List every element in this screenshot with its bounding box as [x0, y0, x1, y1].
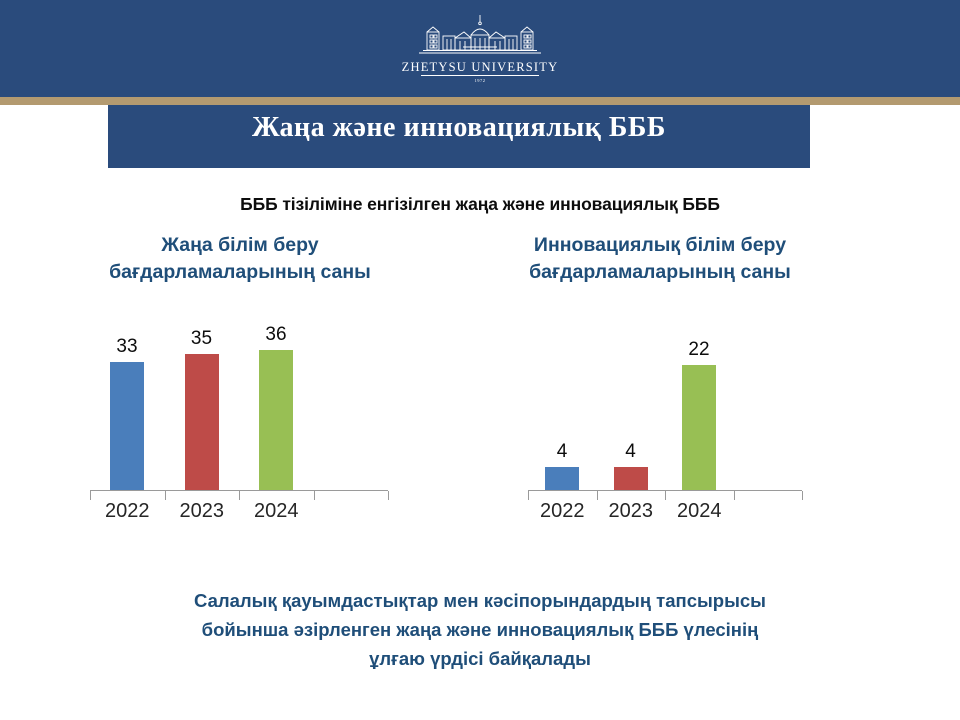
chart-panel-new-programs: Жаңа білім беру бағдарламаларының саны 3… [40, 232, 440, 572]
x-axis-tick [239, 491, 240, 500]
chart-panel-innovative-programs: Инновациялық білім беру бағдарламаларыны… [460, 232, 860, 572]
bar-2024 [259, 350, 293, 490]
slide-subtitle: БББ тізіліміне енгізілген жаңа және инно… [0, 194, 960, 215]
x-axis-label-2022: 2022 [92, 500, 162, 522]
bar-value-label-2022: 4 [531, 442, 593, 461]
caption-line-3: ұлғаю үрдісі байқалады [0, 644, 960, 673]
caption-line-2: бойынша әзірленген жаңа және инновациялы… [0, 615, 960, 644]
logo-divider [421, 75, 539, 76]
x-axis-tick [528, 491, 529, 500]
university-logo: ZHETYSU UNIVERSITY 1972 [390, 14, 570, 84]
x-axis-tick [314, 491, 315, 500]
chart-title-line-2: бағдарламаларының саны [529, 261, 791, 283]
x-axis-tick [165, 491, 166, 500]
x-axis-label-2022: 2022 [527, 500, 597, 522]
x-axis-tick [665, 491, 666, 500]
x-axis-label-2023: 2023 [167, 500, 237, 522]
bar-2023 [185, 354, 219, 490]
x-axis-tick [388, 491, 389, 500]
bar-value-label-2024: 22 [668, 340, 730, 359]
x-axis-tick [597, 491, 598, 500]
plot-area-new-programs: 332022352023362024 [40, 307, 440, 522]
chart-title-new-programs: Жаңа білім беру бағдарламаларының саны [40, 232, 440, 286]
chart-title-innovative-programs: Инновациялық білім беру бағдарламаларыны… [460, 232, 860, 286]
bar-2024 [682, 365, 716, 490]
page-header: ZHETYSU UNIVERSITY 1972 [0, 0, 960, 97]
caption-line-1: Салалық қауымдастықтар мен кәсіпорындард… [0, 586, 960, 615]
bar-2022 [545, 467, 579, 490]
x-axis-label-2024: 2024 [664, 500, 734, 522]
bar-2022 [110, 362, 144, 490]
university-building-icon [405, 14, 555, 60]
x-axis-label-2024: 2024 [241, 500, 311, 522]
bar-value-label-2023: 4 [600, 442, 662, 461]
bar-value-label-2024: 36 [245, 325, 307, 344]
chart-title-line-2: бағдарламаларының саны [109, 261, 371, 283]
chart-title-line-1: Жаңа білім беру [161, 234, 318, 256]
slide-caption: Салалық қауымдастықтар мен кәсіпорындард… [0, 586, 960, 673]
x-axis-tick [90, 491, 91, 500]
logo-founding-year: 1972 [475, 78, 486, 83]
plot-area-innovative-programs: 4202242023222024 [460, 307, 860, 522]
slide-title-banner: Жаңа және инновациялық БББ [108, 105, 810, 168]
x-axis-label-2023: 2023 [596, 500, 666, 522]
page-title: Жаңа және инновациялық БББ [252, 112, 666, 144]
charts-area: Жаңа білім беру бағдарламаларының саны 3… [0, 232, 960, 572]
x-axis-tick [734, 491, 735, 500]
bar-value-label-2023: 35 [171, 329, 233, 348]
logo-wordmark: ZHETYSU UNIVERSITY [402, 61, 559, 74]
bar-2023 [614, 467, 648, 490]
bar-value-label-2022: 33 [96, 337, 158, 356]
gold-accent-strip [0, 97, 960, 105]
x-axis-tick [802, 491, 803, 500]
chart-title-line-1: Инновациялық білім беру [534, 234, 786, 256]
